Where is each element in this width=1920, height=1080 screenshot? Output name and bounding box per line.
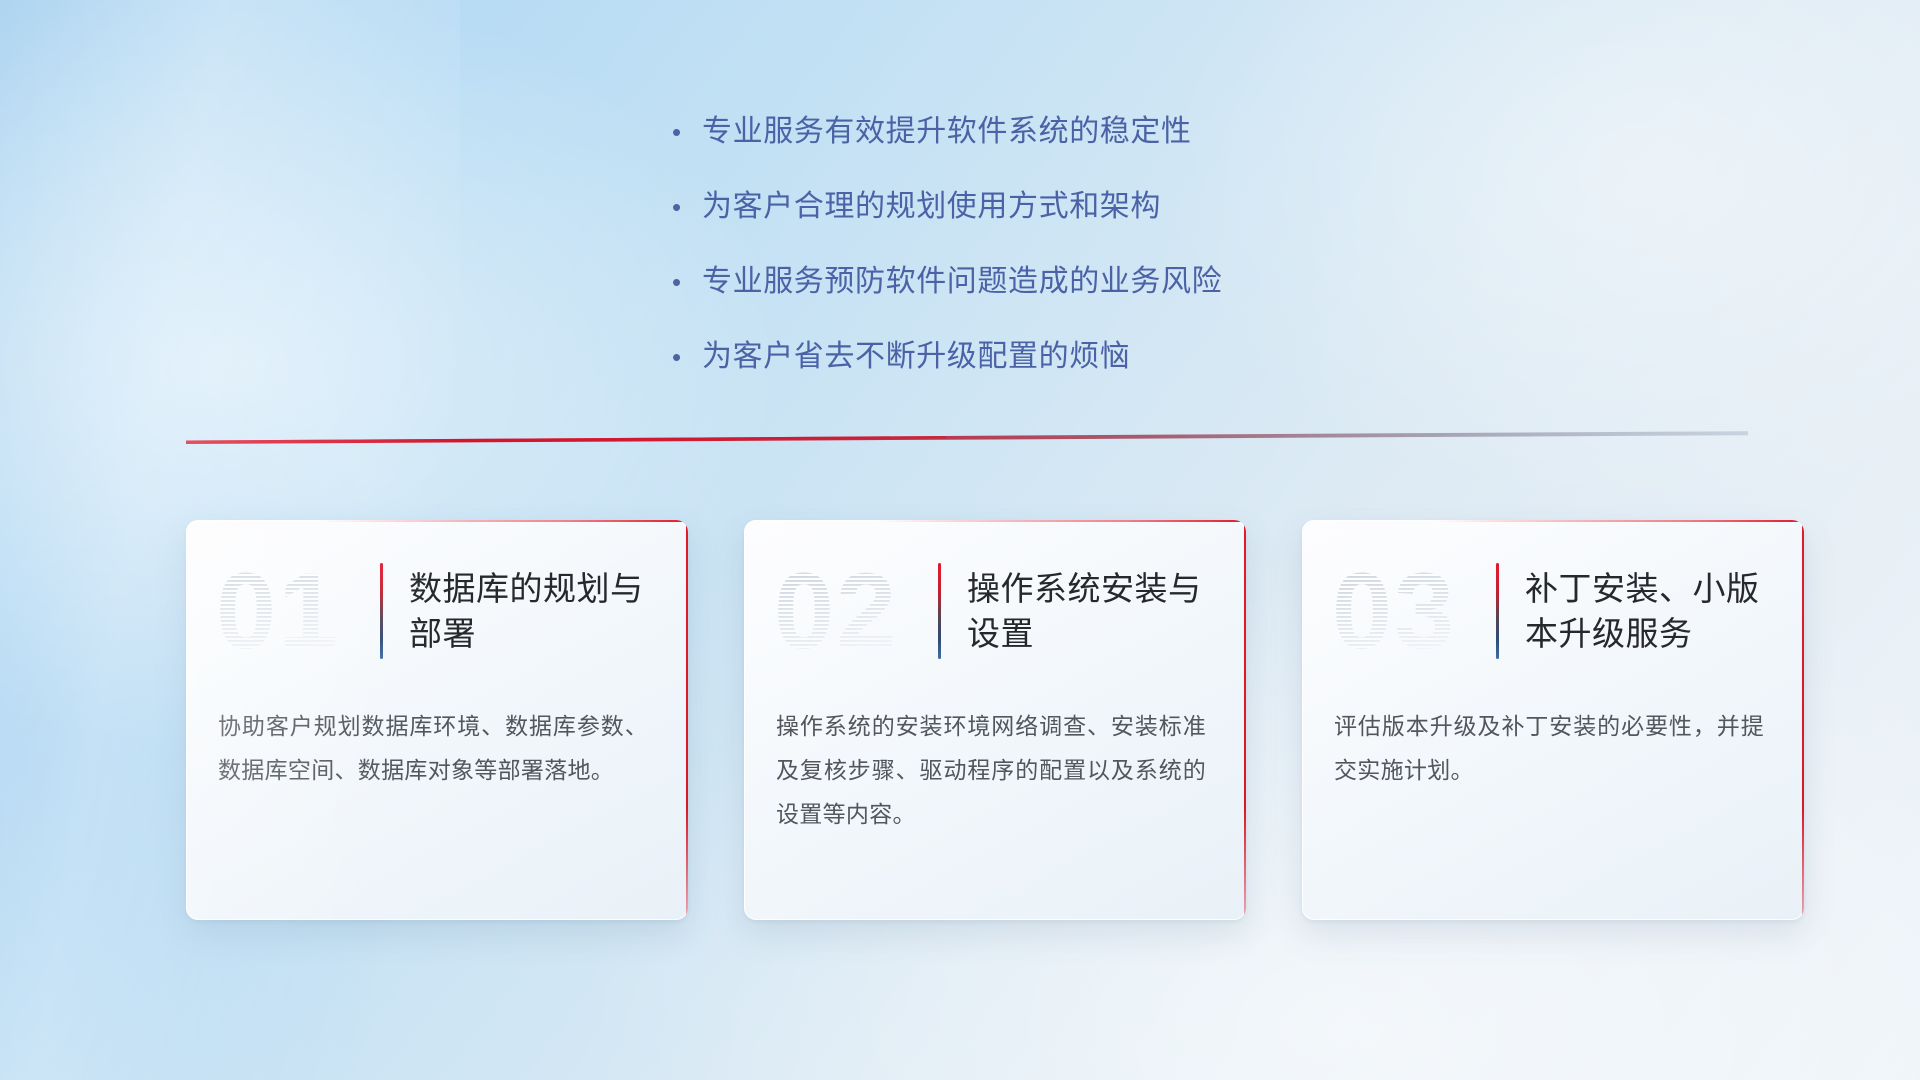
- list-item: • 为客户合理的规划使用方式和架构: [672, 185, 1492, 229]
- bullet-point-icon: •: [672, 260, 702, 304]
- card-description: 评估版本升级及补丁安装的必要性，并提交实施计划。: [1302, 680, 1804, 792]
- title-accent-bar: [1496, 563, 1499, 659]
- service-card[interactable]: 03 补丁安装、小版本升级服务 评估版本升级及补丁安装的必要性，并提交实施计划。: [1302, 520, 1804, 920]
- watermark-number: 02: [774, 556, 930, 666]
- bullet-point-icon: •: [672, 185, 702, 229]
- title-accent-bar: [380, 563, 383, 659]
- card-title: 操作系统安装与设置: [967, 566, 1218, 656]
- card-header: 02 操作系统安装与设置: [744, 520, 1246, 680]
- bullet-point-icon: •: [672, 110, 702, 154]
- bullet-text: 专业服务有效提升软件系统的稳定性: [702, 110, 1192, 154]
- card-description: 操作系统的安装环境网络调查、安装标准及复核步骤、驱动程序的配置以及系统的设置等内…: [744, 680, 1246, 836]
- bullet-text: 专业服务预防软件问题造成的业务风险: [702, 260, 1222, 304]
- bullet-text: 为客户省去不断升级配置的烦恼: [702, 335, 1130, 379]
- list-item: • 专业服务预防软件问题造成的业务风险: [672, 260, 1492, 304]
- svg-text:01: 01: [216, 556, 340, 666]
- list-item: • 为客户省去不断升级配置的烦恼: [672, 335, 1492, 379]
- watermark-number: 01: [216, 556, 372, 666]
- bullet-text: 为客户合理的规划使用方式和架构: [702, 185, 1161, 229]
- watermark-number: 03: [1332, 556, 1488, 666]
- bullet-point-icon: •: [672, 335, 702, 379]
- service-card-row: 01 数据库的规划与部署 协助客户规划数据库环境、数据库参数、数据库空间、数据库…: [186, 520, 1806, 920]
- striped-number-icon: 02: [774, 556, 930, 666]
- striped-number-icon: 03: [1332, 556, 1488, 666]
- section-divider: [186, 430, 1748, 452]
- striped-number-icon: 01: [216, 556, 372, 666]
- title-accent-bar: [938, 563, 941, 659]
- slide-canvas: • 专业服务有效提升软件系统的稳定性 • 为客户合理的规划使用方式和架构 • 专…: [0, 0, 1920, 1080]
- card-header: 03 补丁安装、小版本升级服务: [1302, 520, 1804, 680]
- card-title: 补丁安装、小版本升级服务: [1525, 566, 1776, 656]
- card-title: 数据库的规划与部署: [409, 566, 660, 656]
- svg-text:02: 02: [774, 556, 898, 666]
- service-card[interactable]: 01 数据库的规划与部署 协助客户规划数据库环境、数据库参数、数据库空间、数据库…: [186, 520, 688, 920]
- svg-text:03: 03: [1332, 556, 1456, 666]
- service-card[interactable]: 02 操作系统安装与设置 操作系统的安装环境网络调查、安装标准及复核步骤、驱动程…: [744, 520, 1246, 920]
- tapered-rule-icon: [186, 430, 1748, 452]
- card-description: 协助客户规划数据库环境、数据库参数、数据库空间、数据库对象等部署落地。: [186, 680, 688, 792]
- benefits-bullet-list: • 专业服务有效提升软件系统的稳定性 • 为客户合理的规划使用方式和架构 • 专…: [672, 110, 1492, 410]
- card-header: 01 数据库的规划与部署: [186, 520, 688, 680]
- list-item: • 专业服务有效提升软件系统的稳定性: [672, 110, 1492, 154]
